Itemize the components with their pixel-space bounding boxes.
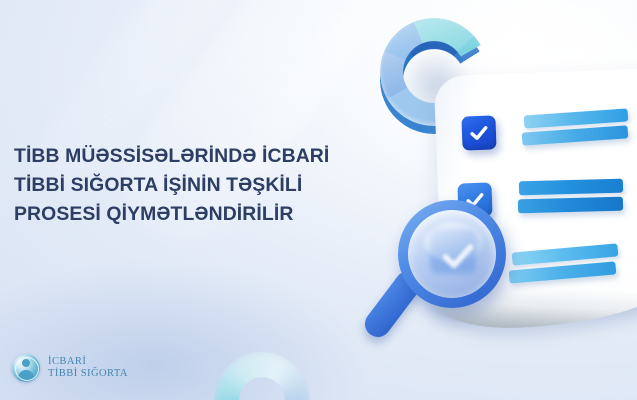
checklist-bar-2a	[519, 179, 623, 196]
brand-logo-line-1: İCBARİ	[48, 356, 128, 369]
check-icon	[461, 256, 484, 279]
emblem-ring	[15, 357, 39, 381]
brand-logo-line-2: TİBBİ SIĞORTA	[48, 368, 128, 381]
checkbox-checked-3	[454, 249, 489, 284]
magnifier-handle	[360, 266, 427, 342]
checkbox-checked-2	[457, 182, 492, 217]
headline-line-2: TİBBİ SIĞORTA İŞİNİN TƏŞKİLİ	[14, 171, 414, 200]
checkbox-checked-1	[461, 115, 496, 150]
icbari-tibbi-sigorta-emblem-icon	[12, 354, 40, 382]
brand-logo-text: İCBARİ TİBBİ SIĞORTA	[48, 356, 128, 381]
check-icon	[468, 122, 491, 145]
headline-line-3: PROSESİ QİYMƏTLƏNDİRİLİR	[14, 200, 414, 229]
check-icon	[464, 189, 487, 212]
headline-line-1: TİBB MÜƏSSİSƏLƏRİNDƏ İCBARİ	[14, 142, 414, 171]
promo-banner: TİBB MÜƏSSİSƏLƏRİNDƏ İCBARİ TİBBİ SIĞORT…	[0, 0, 637, 400]
brand-logo: İCBARİ TİBBİ SIĞORTA	[12, 354, 128, 382]
headline: TİBB MÜƏSSİSƏLƏRİNDƏ İCBARİ TİBBİ SIĞORT…	[14, 142, 414, 229]
background-blurred-donut	[214, 352, 310, 400]
checklist-bar-2b	[518, 197, 623, 214]
